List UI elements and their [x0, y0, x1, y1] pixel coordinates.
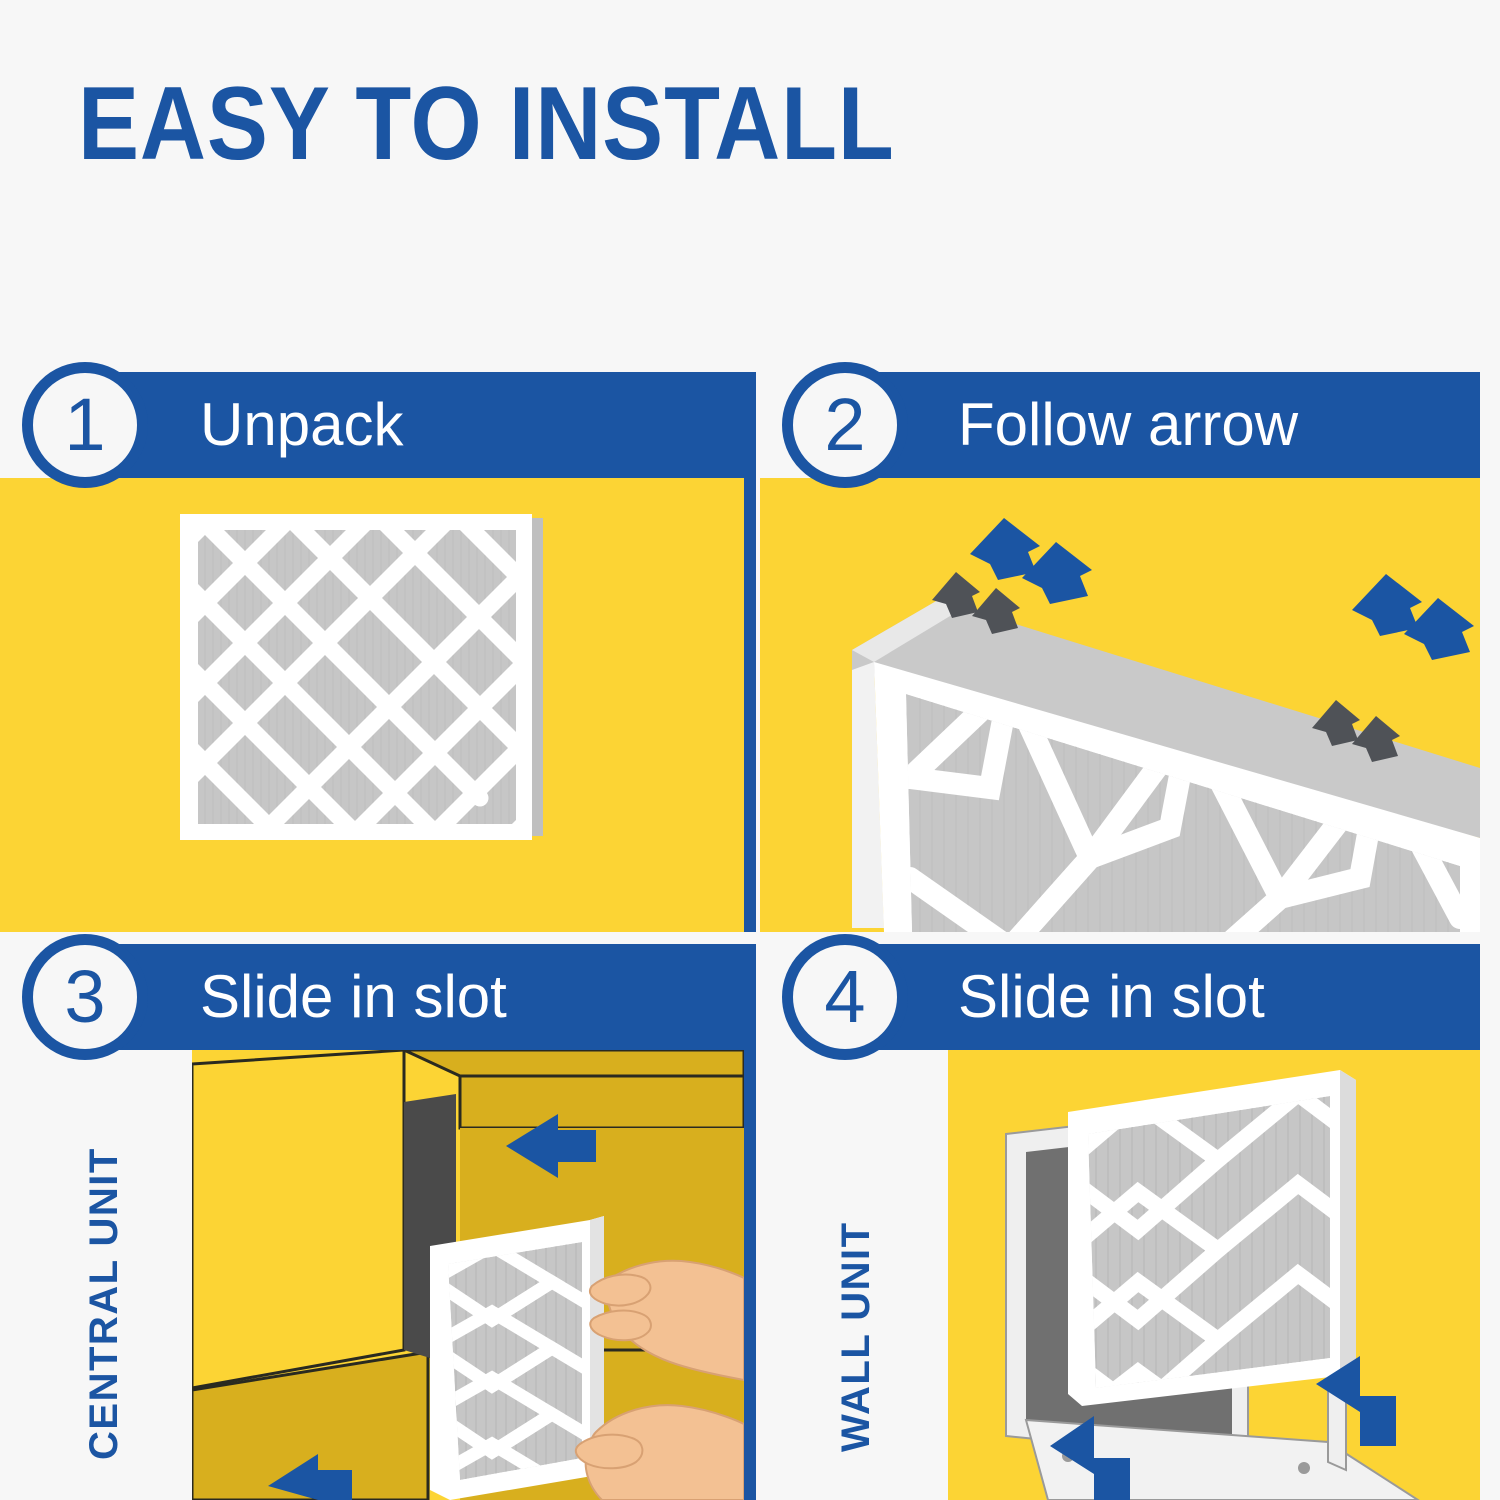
step-3-number: 3 [33, 945, 137, 1049]
step-4-illustration [948, 1050, 1480, 1500]
step-1-number-badge: 1 [22, 362, 148, 488]
step-2-number: 2 [793, 373, 897, 477]
page-title: EASY TO INSTALL [78, 72, 895, 176]
airflow-arrow-blue-icon [760, 478, 1480, 678]
step-2-label: Follow arrow [958, 372, 1298, 478]
infographic-canvas: EASY TO INSTALL Unpack 1 [0, 0, 1500, 1500]
air-filter-front-icon [0, 478, 744, 932]
step-1-illustration [0, 478, 744, 932]
column-divider-top [744, 372, 756, 932]
column-divider-bottom [744, 944, 756, 1500]
step-4-label: Slide in slot [958, 944, 1265, 1050]
furnace-unit-icon [192, 1050, 744, 1500]
step-1-label: Unpack [200, 372, 403, 478]
step-4-side-label: WALL UNIT [834, 1221, 879, 1452]
step-1-number: 1 [33, 373, 137, 477]
step-1-banner [76, 372, 744, 478]
step-2-illustration [760, 478, 1480, 932]
step-3-side-label: CENTRAL UNIT [82, 1147, 127, 1460]
step-4-number: 4 [793, 945, 897, 1049]
step-3-number-badge: 3 [22, 934, 148, 1060]
step-3-label: Slide in slot [200, 944, 507, 1050]
step-3-illustration [192, 1050, 744, 1500]
step-4-number-badge: 4 [782, 934, 908, 1060]
step-2-number-badge: 2 [782, 362, 908, 488]
wall-vent-icon [948, 1050, 1480, 1500]
